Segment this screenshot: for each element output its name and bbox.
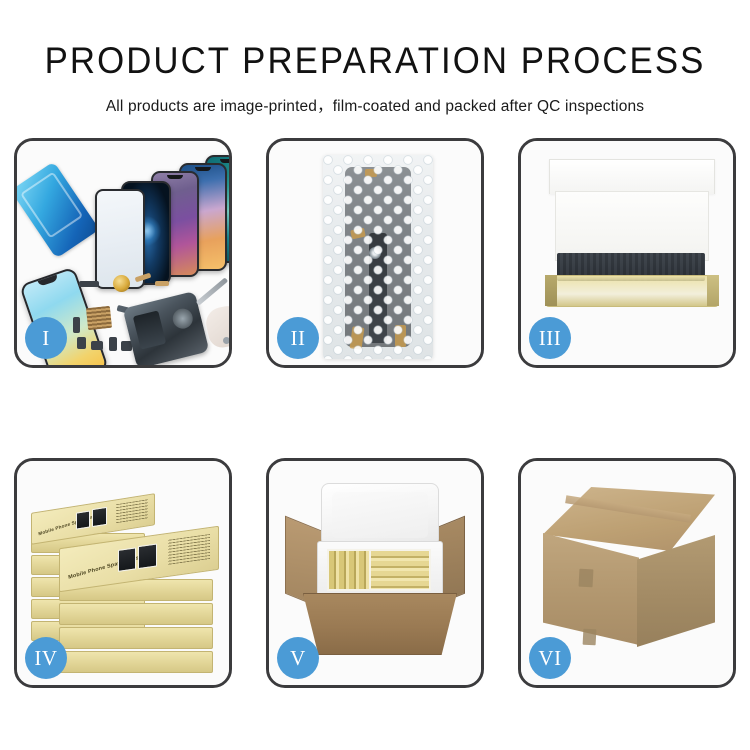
gold-coil-part-icon bbox=[113, 275, 130, 292]
small-part-icon bbox=[155, 281, 169, 286]
small-part-icon bbox=[77, 337, 86, 349]
box-spec-text-lines bbox=[116, 499, 148, 524]
box-front-panel-icon bbox=[545, 275, 719, 307]
step-badge-4: IV bbox=[25, 637, 67, 679]
box-product-image-icon bbox=[118, 547, 136, 572]
phone-notch-icon bbox=[195, 167, 211, 171]
page-subtitle: All products are image-printed，film-coat… bbox=[0, 82, 750, 116]
repair-tweezers-icon bbox=[196, 277, 228, 305]
chip-grid-part-icon bbox=[86, 306, 112, 330]
carton-front-panel-icon bbox=[303, 593, 457, 655]
small-part-icon bbox=[79, 281, 99, 287]
carton-seam-icon bbox=[583, 629, 597, 646]
bubble-texture-icon bbox=[323, 155, 433, 359]
process-step-panel-2: II bbox=[266, 138, 484, 368]
process-step-panel-1: I bbox=[14, 138, 232, 368]
box-edge bbox=[59, 627, 213, 649]
yellow-box-stack-vertical bbox=[329, 551, 369, 589]
page-title: PRODUCT PREPARATION PROCESS bbox=[23, 0, 728, 82]
box-edge bbox=[59, 651, 213, 673]
step-badge-5: V bbox=[277, 637, 319, 679]
box-product-image-icon bbox=[92, 507, 107, 527]
blue-adhesive-film-icon bbox=[17, 161, 99, 258]
box-product-image-icon bbox=[138, 543, 157, 569]
process-step-panel-3: III bbox=[518, 138, 736, 368]
step-badge-1: I bbox=[25, 317, 67, 359]
box-lid-icon bbox=[549, 159, 715, 194]
process-step-panel-4: Mobile Phone Spare Parts Mobile Phone Sp… bbox=[14, 458, 232, 688]
box-label-text: Mobile Phone Spare Parts bbox=[38, 512, 100, 536]
box-spec-text-lines bbox=[168, 534, 210, 566]
small-part-icon bbox=[91, 341, 103, 350]
carton-right-face-icon bbox=[637, 535, 715, 647]
screen-protector-glass-icon bbox=[95, 189, 145, 289]
box-back-panel-icon bbox=[555, 191, 709, 261]
box-product-image-icon bbox=[76, 510, 90, 529]
process-step-panel-5: V bbox=[266, 458, 484, 688]
phone-notch-icon bbox=[167, 175, 183, 179]
step-badge-2: II bbox=[277, 317, 319, 359]
box-edge bbox=[59, 603, 213, 625]
process-step-panel-6: VI bbox=[518, 458, 736, 688]
header: PRODUCT PREPARATION PROCESS All products… bbox=[0, 0, 750, 116]
small-part-icon bbox=[109, 337, 117, 351]
carton-seam-icon bbox=[579, 569, 594, 588]
step-badge-6: VI bbox=[529, 637, 571, 679]
bubble-wrap-bag-icon bbox=[323, 155, 433, 359]
screw-icon bbox=[223, 337, 229, 344]
phone-notch-icon bbox=[220, 159, 229, 163]
yellow-box-stack-horizontal bbox=[371, 551, 429, 589]
foam-lid-icon bbox=[321, 483, 439, 547]
step-badge-3: III bbox=[529, 317, 571, 359]
process-panel-grid: I II bbox=[14, 138, 736, 688]
small-part-icon bbox=[73, 317, 80, 333]
boxes-inside-foam-icon bbox=[327, 549, 431, 591]
